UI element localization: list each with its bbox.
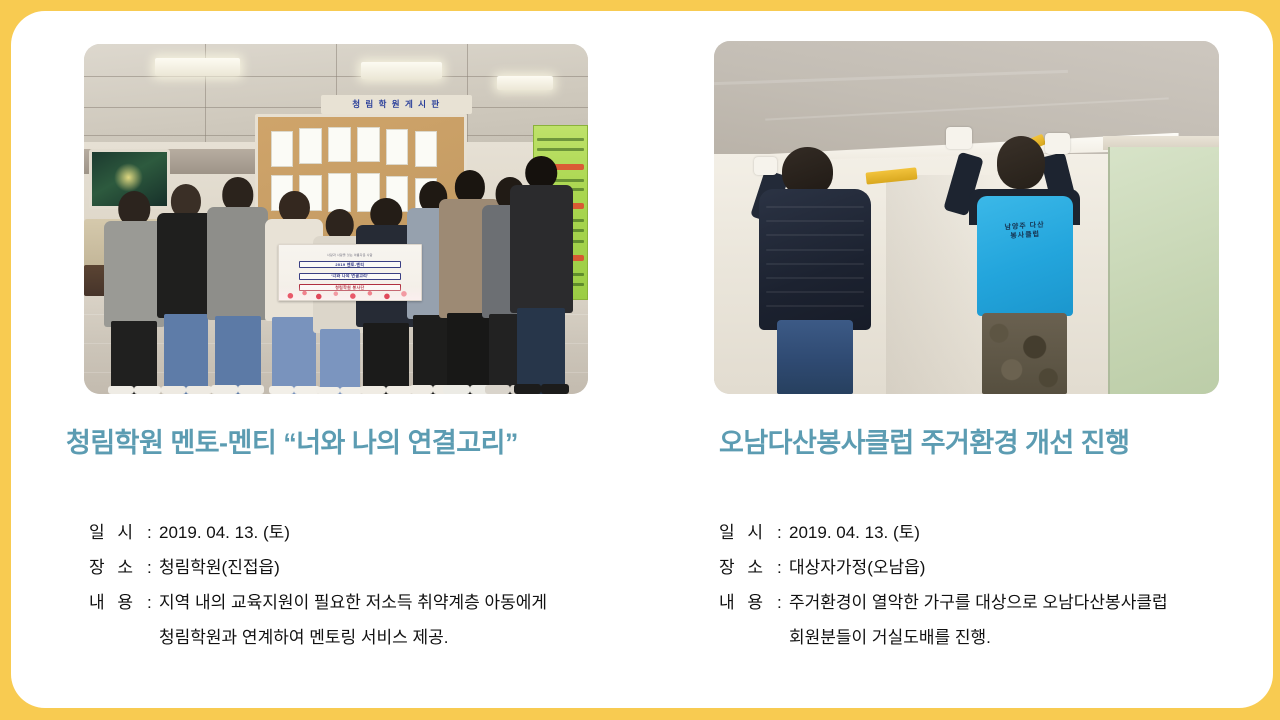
ceiling-light <box>361 62 442 80</box>
blue-volunteer-vest: 남양주 다산 봉사클럽 <box>977 196 1073 316</box>
slide-content: 청 림 학 원 게 시 판 <box>11 11 1273 708</box>
person-figure <box>207 177 267 394</box>
detail-label: 장 소 <box>89 550 147 585</box>
detail-label: 일 시 <box>89 515 147 550</box>
detail-separator: : <box>147 515 159 550</box>
card-title-left: 청림학원 멘토-멘티 “너와 나의 연결고리” <box>66 421 518 460</box>
detail-row-content-continued: 청림학원과 연계하여 멘토링 서비스 제공. <box>89 620 649 655</box>
detail-value: 2019. 04. 13. (토) <box>789 515 1273 550</box>
photo-right-scene: 남양주 다산 봉사클럽 <box>714 41 1219 394</box>
banner-flower-border <box>279 286 421 300</box>
detail-row-place: 장 소 : 청림학원(진접읍) <box>89 550 649 585</box>
detail-separator: : <box>147 550 159 585</box>
detail-value: 주거환경이 열악한 가구를 대상으로 오남다산봉사클럽 <box>789 585 1273 620</box>
navy-puffer-jacket <box>759 189 870 330</box>
detail-separator: : <box>777 585 789 620</box>
ceiling-light <box>155 58 241 76</box>
detail-label: 내 용 <box>719 585 777 620</box>
detail-value-continued: 청림학원과 연계하여 멘토링 서비스 제공. <box>159 620 649 655</box>
detail-label: 일 시 <box>719 515 777 550</box>
work-glove <box>754 157 777 175</box>
detail-label: 장 소 <box>719 550 777 585</box>
details-block-left: 일 시 : 2019. 04. 13. (토) 장 소 : 청림학원(진접읍) … <box>89 515 649 655</box>
slide-page-frame: 청 림 학 원 게 시 판 <box>11 11 1273 708</box>
person-figure <box>157 184 215 394</box>
detail-row-date: 일 시 : 2019. 04. 13. (토) <box>719 515 1273 550</box>
detail-value: 지역 내의 교육지원이 필요한 저소득 취약계층 아동에게 <box>159 585 649 620</box>
vest-club-text: 남양주 다산 봉사클럽 <box>1004 221 1045 241</box>
detail-row-content: 내 용 : 주거환경이 열악한 가구를 대상으로 오남다산봉사클럽 <box>719 585 1273 620</box>
leaning-board-panel <box>1108 147 1219 394</box>
photo-card-left: 청 림 학 원 게 시 판 <box>84 44 588 394</box>
detail-label: 내 용 <box>89 585 147 620</box>
person-figure <box>510 156 573 394</box>
detail-separator: : <box>777 515 789 550</box>
volunteer-head <box>997 136 1045 189</box>
work-glove <box>1045 133 1070 154</box>
detail-value: 청림학원(진접읍) <box>159 550 649 585</box>
photo-card-right: 남양주 다산 봉사클럽 <box>714 41 1219 394</box>
detail-value: 2019. 04. 13. (토) <box>159 515 649 550</box>
person-figure <box>104 191 164 394</box>
notice-board-title-text: 청 림 학 원 게 시 판 <box>352 98 440 110</box>
photo-left-scene: 청 림 학 원 게 시 판 <box>84 44 588 394</box>
card-title-right: 오남다산봉사클럽 주거환경 개선 진행 <box>719 421 1129 460</box>
detail-separator: : <box>147 585 159 620</box>
banner-line-2: ‘너와 나의 연결고리’ <box>299 273 401 280</box>
detail-row-content: 내 용 : 지역 내의 교육지원이 필요한 저소득 취약계층 아동에게 <box>89 585 649 620</box>
volunteer-camo-pants <box>982 313 1068 394</box>
work-glove <box>946 127 971 148</box>
detail-value-continued: 회원분들이 거실도배를 진행. <box>789 620 1273 655</box>
ceiling-light <box>497 76 552 90</box>
event-banner: 사랑과 사랑을 잇는 아름다운 사람 2019 멘토-멘티 ‘너와 나의 연결고… <box>278 244 422 302</box>
notice-board-title: 청 림 학 원 게 시 판 <box>321 95 472 114</box>
detail-row-content-continued: 회원분들이 거실도배를 진행. <box>719 620 1273 655</box>
detail-row-date: 일 시 : 2019. 04. 13. (토) <box>89 515 649 550</box>
detail-value: 대상자가정(오남읍) <box>789 550 1273 585</box>
worker-jeans <box>777 320 853 394</box>
detail-separator: : <box>777 550 789 585</box>
details-block-right: 일 시 : 2019. 04. 13. (토) 장 소 : 대상자가정(오남읍)… <box>719 515 1273 655</box>
banner-line-1: 2019 멘토-멘티 <box>299 261 401 268</box>
detail-row-place: 장 소 : 대상자가정(오남읍) <box>719 550 1273 585</box>
banner-tagline: 사랑과 사랑을 잇는 아름다운 사람 <box>279 253 421 257</box>
